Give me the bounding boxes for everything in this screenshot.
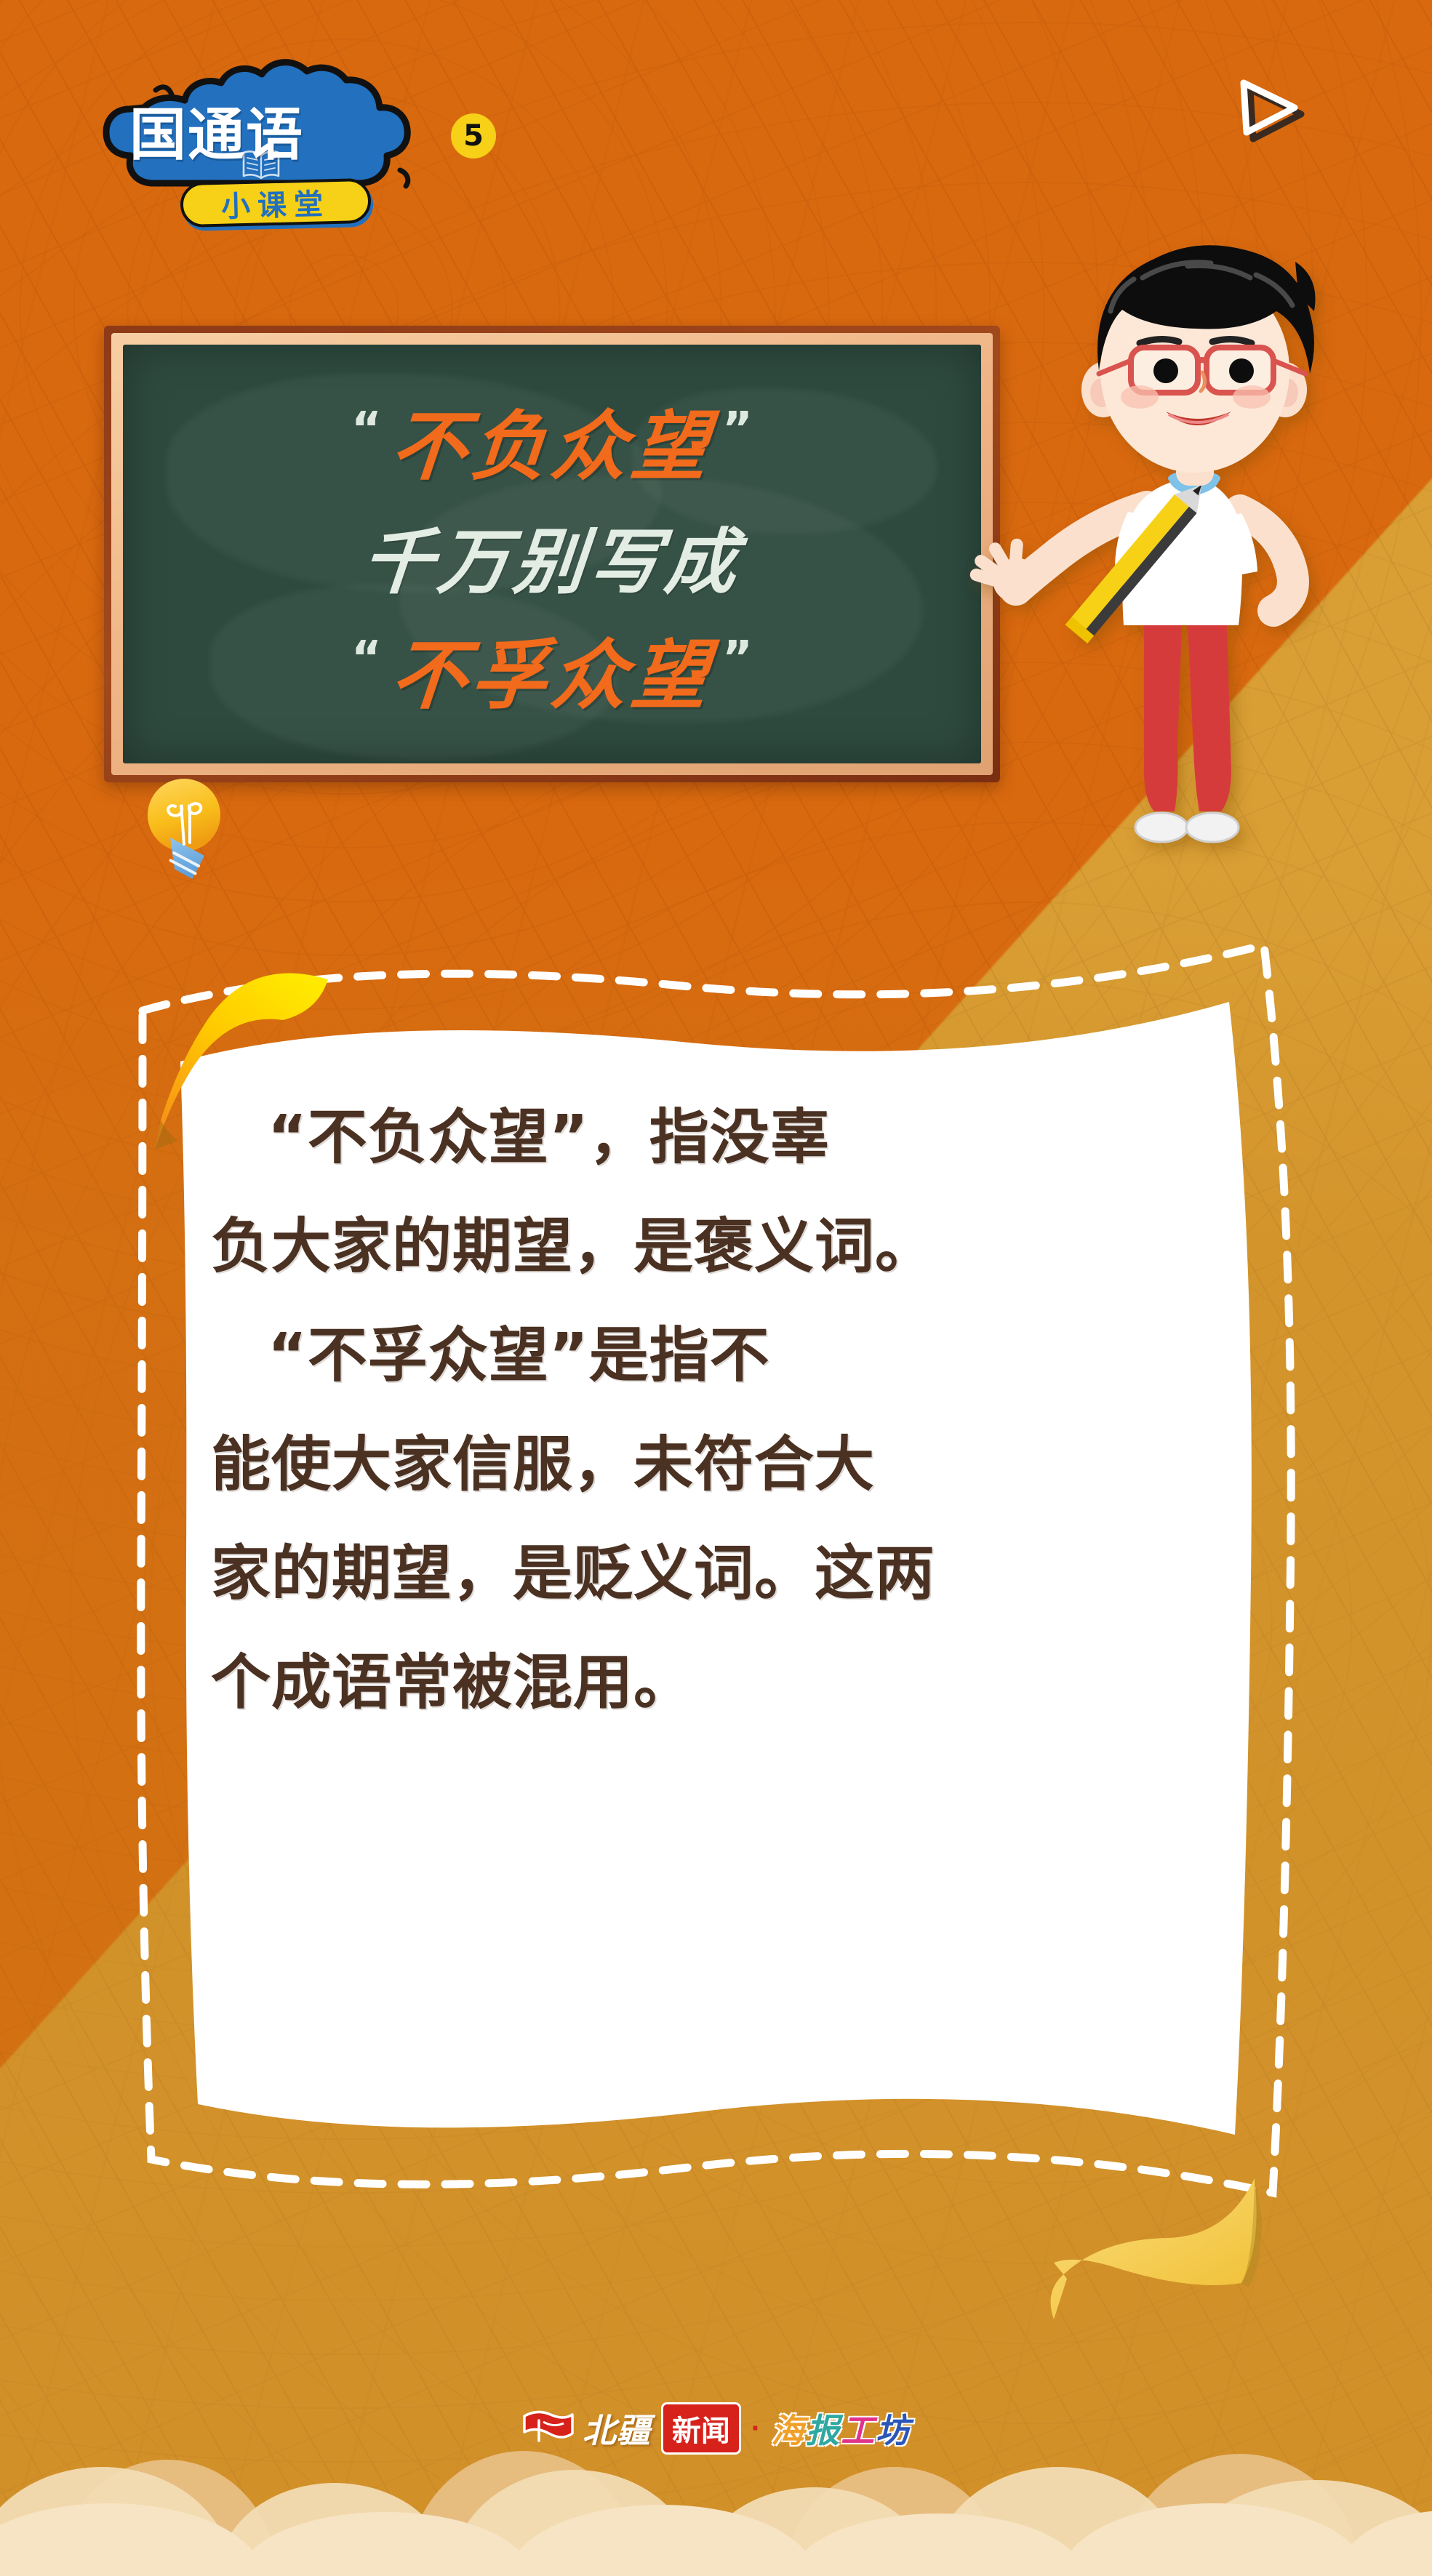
card-line-6: 个成语常被混用。: [211, 1629, 1178, 1738]
card-line-4: 能使大家信服，未符合大: [211, 1411, 1178, 1520]
logo-block: 国通语 5 小课堂: [87, 63, 422, 237]
blackboard-line-2: 千万别写成: [363, 505, 741, 608]
footer-studio-char-3: 工: [841, 2411, 876, 2450]
student-boy-illustration: [956, 218, 1393, 945]
open-quote: “: [351, 406, 382, 453]
card-line-1: “不负众望”，指没辜: [211, 1083, 1178, 1192]
footer-studio-char-2: 报: [806, 2411, 841, 2450]
close-quote: ”: [722, 635, 753, 682]
poster-root: 国通语 5 小课堂 “ 不负众望 ” 千万别写成 “: [0, 0, 1432, 2576]
blackboard-line-1: “ 不负众望 ”: [351, 385, 753, 494]
card-line-2: 负大家的期望，是褒义词。: [211, 1192, 1178, 1301]
open-quote: “: [351, 635, 382, 682]
card-line-3: “不孚众望”是指不: [211, 1301, 1178, 1411]
blackboard-text: “ 不负众望 ” 千万别写成 “ 不孚众望 ”: [123, 345, 981, 763]
lightbulb-icon: [142, 767, 236, 891]
open-book-icon: [241, 148, 281, 180]
red-flag-icon: [521, 2409, 575, 2448]
card-line-5: 家的期望，是贬义词。这两: [211, 1520, 1178, 1629]
card-ribbon-bottom-right: [1022, 2138, 1284, 2334]
footer-brand: 北疆: [583, 2404, 651, 2452]
footer-separator: ·: [751, 2412, 761, 2445]
footer-studio-char-1: 海: [771, 2411, 806, 2450]
logo-subtitle: 小课堂: [180, 178, 371, 228]
footer-brand-tag: 新闻: [661, 2402, 741, 2455]
close-quote: ”: [722, 406, 753, 453]
blackboard-line-3: “ 不孚众望 ”: [351, 614, 753, 723]
blackboard-line-2-text: 千万别写成: [359, 505, 745, 608]
blackboard-surface: “ 不负众望 ” 千万别写成 “ 不孚众望 ”: [123, 345, 981, 763]
footer-studio: 海报工坊: [771, 2404, 911, 2452]
card-body-text: “不负众望”，指没辜 负大家的期望，是褒义词。 “不孚众望”是指不 能使大家信服…: [211, 1083, 1178, 1738]
logo-episode-badge: 5: [451, 113, 496, 159]
footer-studio-char-4: 坊: [876, 2411, 911, 2450]
blackboard-line-1-text: 不负众望: [387, 385, 716, 494]
blackboard-line-3-text: 不孚众望: [387, 614, 716, 723]
footer-brand-bar: 北疆 新闻 · 海报工坊: [0, 2399, 1432, 2457]
blackboard: “ 不负众望 ” 千万别写成 “ 不孚众望 ”: [104, 326, 1000, 782]
